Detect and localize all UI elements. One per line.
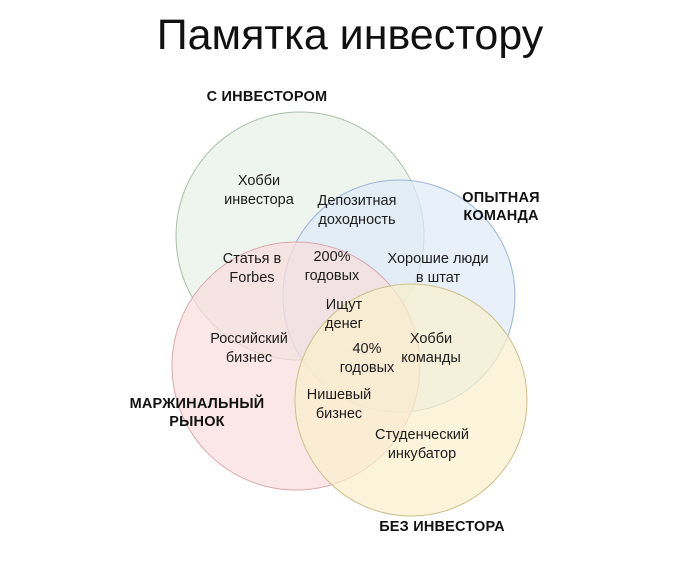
venn-label-s-investorom: С ИНВЕСТОРОМ: [182, 89, 352, 107]
venn-region-ishchut-deneg: Ищут денег: [302, 296, 386, 333]
venn-label-opytnaya-komanda: ОПЫТНАЯ КОМАНДА: [436, 190, 566, 225]
venn-region-200-godovyh: 200% годовых: [290, 248, 374, 285]
venn-region-nishevyy-biznes: Нишевый бизнес: [288, 386, 390, 423]
venn-region-hobby-komandy: Хобби команды: [385, 330, 477, 367]
venn-region-studencheskiy-inkubator: Студенческий инкубатор: [356, 426, 488, 463]
venn-diagram: [0, 0, 700, 585]
venn-region-horoshie-lyudi-v-shtat: Хорошие люди в штат: [372, 250, 504, 287]
slide-canvas: Памятка инвестору С ИНВЕСТОРОМ ОПЫТНАЯ К…: [0, 0, 700, 585]
venn-label-marzhinalnyy-rynok: МАРЖИНАЛЬНЫЙ РЫНОК: [112, 396, 282, 431]
venn-region-depozitnaya-dohodnost: Депозитная доходность: [296, 192, 418, 229]
venn-region-rossiyskiy-biznes: Российский бизнес: [186, 330, 312, 367]
venn-label-bez-investora: БЕЗ ИНВЕСТОРА: [352, 519, 532, 537]
